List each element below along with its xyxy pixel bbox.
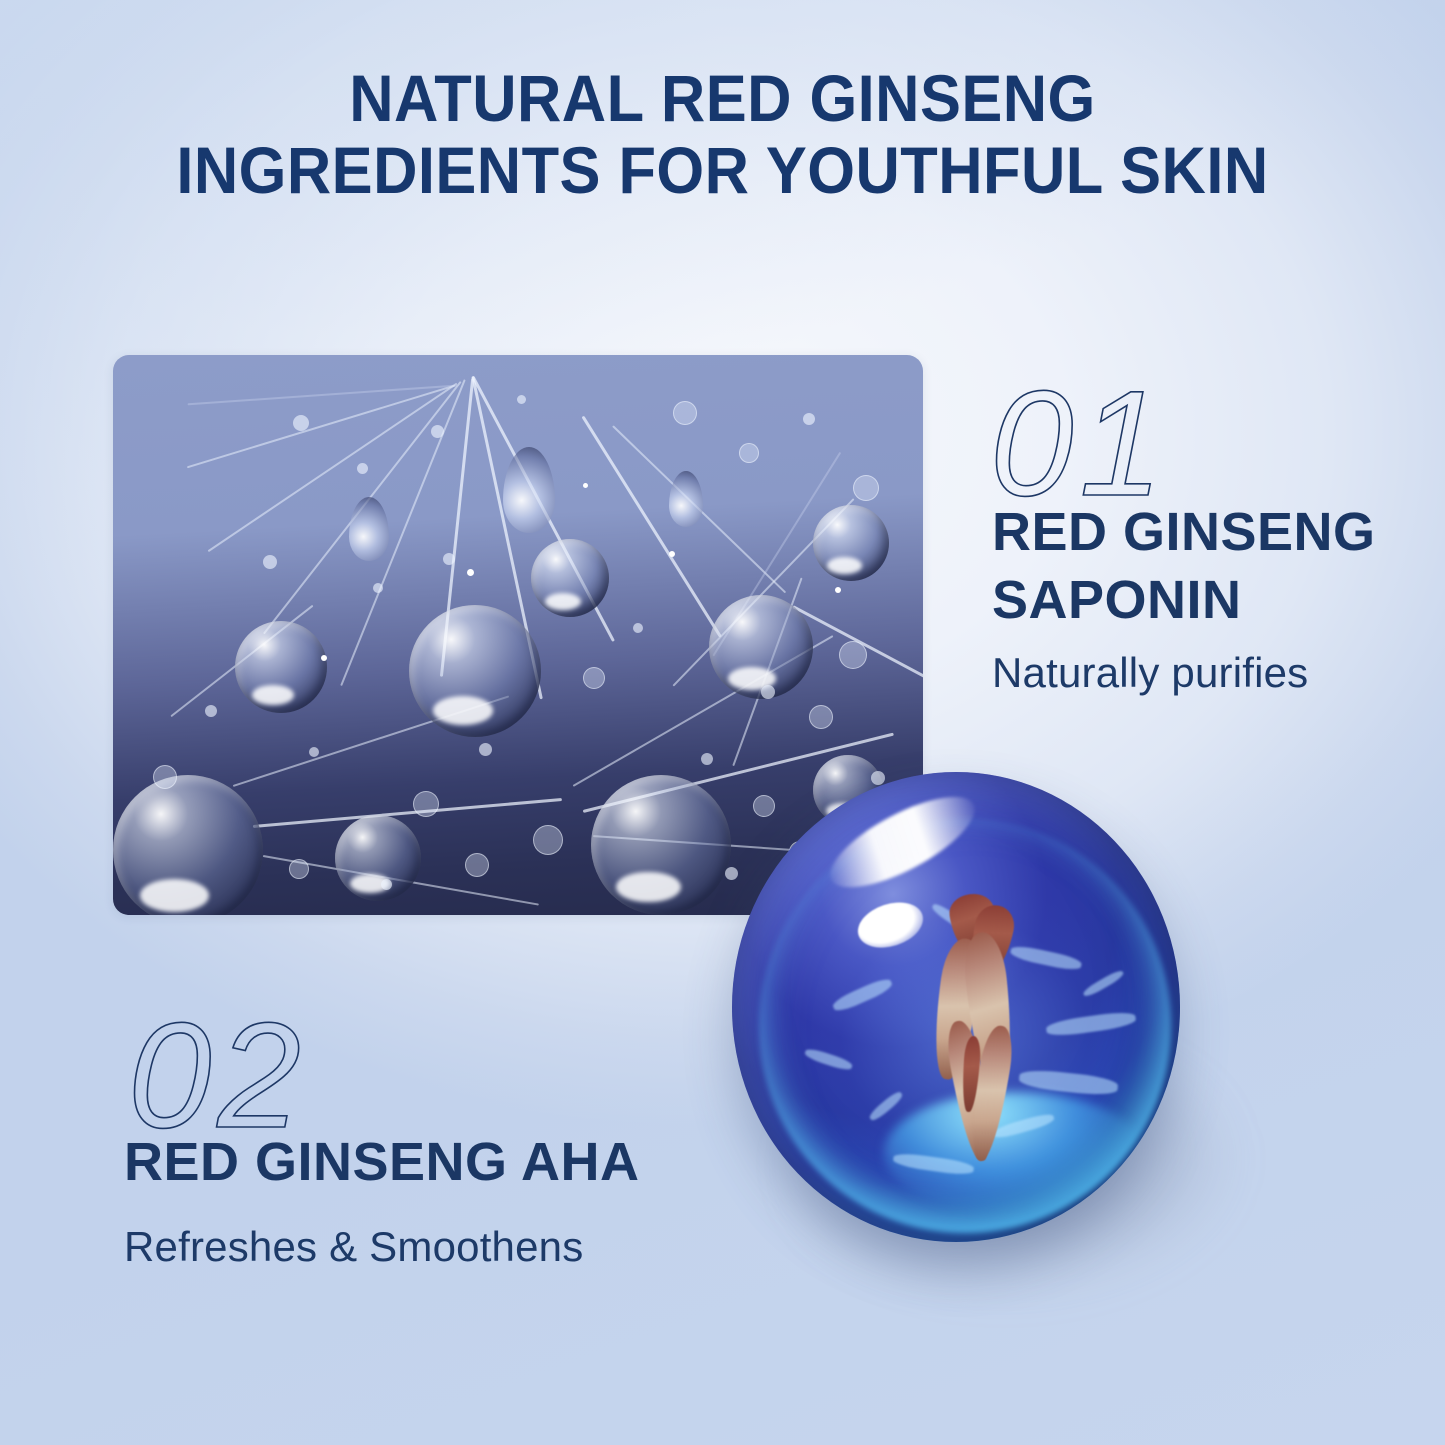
- product-ingredient-poster: NATURAL RED GINSENG INGREDIENTS FOR YOUT…: [0, 0, 1445, 1445]
- section-subtitle-01: Naturally purifies: [992, 648, 1422, 698]
- page-title-line-2: INGREDIENTS FOR YOUTHFUL SKIN: [51, 134, 1395, 206]
- section-heading-02: RED GINSENG AHA: [124, 1128, 744, 1196]
- ginseng-root: [929, 894, 1028, 1167]
- section-heading-01-line-1: RED GINSENG: [992, 498, 1412, 566]
- section-subtitle-02: Refreshes & Smoothens: [124, 1222, 744, 1272]
- section-heading-01: RED GINSENG SAPONIN: [992, 498, 1412, 634]
- page-title: NATURAL RED GINSENG INGREDIENTS FOR YOUT…: [51, 62, 1395, 206]
- page-title-line-1: NATURAL RED GINSENG: [51, 62, 1395, 134]
- blue-gel-sphere-with-ginseng-root: [732, 772, 1180, 1242]
- section-heading-01-line-2: SAPONIN: [992, 566, 1412, 634]
- section-heading-02-line-1: RED GINSENG AHA: [124, 1128, 744, 1196]
- section-number-01: 01: [990, 368, 1169, 518]
